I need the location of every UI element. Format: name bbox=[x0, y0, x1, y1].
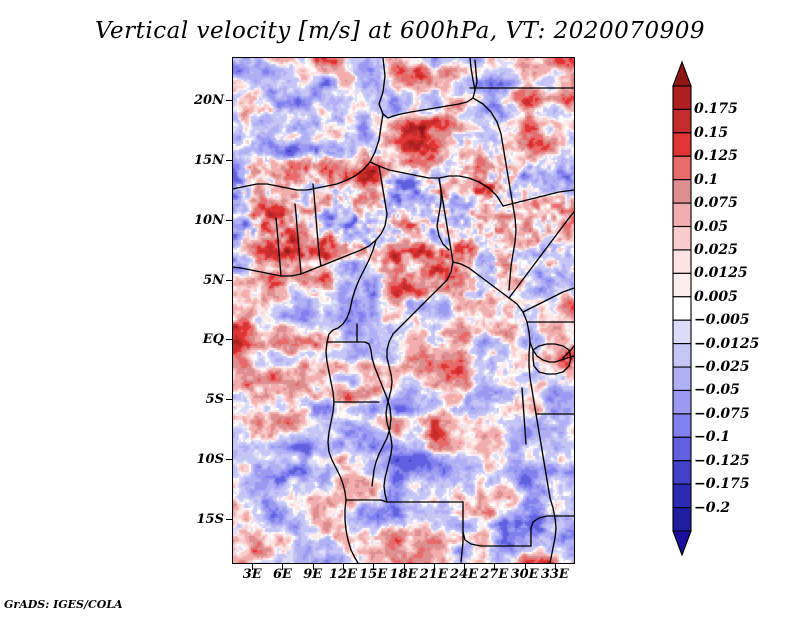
colorbar-band bbox=[673, 180, 691, 203]
page-title: Vertical velocity [m/s] at 600hPa, VT: 2… bbox=[0, 18, 800, 44]
colorbar-band bbox=[673, 273, 691, 296]
y-tick-mark bbox=[226, 220, 233, 221]
colorbar-label-neg0.125: −0.125 bbox=[694, 454, 750, 468]
x-tick-mark bbox=[343, 563, 344, 570]
colorbar-label-0.025: 0.025 bbox=[694, 243, 738, 257]
y-axis-labels: 20N15N10N5NEQ5S10S15S bbox=[160, 57, 224, 562]
colorbar-label-neg0.2: −0.2 bbox=[694, 501, 730, 515]
colorbar-label-0.0125: 0.0125 bbox=[694, 266, 748, 280]
colorbar-label-0.175: 0.175 bbox=[694, 102, 738, 116]
y-tick-label-5n: 5N bbox=[203, 274, 224, 287]
colorbar-band bbox=[673, 203, 691, 226]
colorbar-underflow-arrow-bottom bbox=[673, 531, 691, 555]
colorbar-band bbox=[673, 508, 691, 531]
colorbar-band bbox=[673, 133, 691, 156]
y-tick-label-5s: 5S bbox=[206, 393, 224, 406]
colorbar-band bbox=[673, 227, 691, 250]
map-plot-area[interactable] bbox=[232, 57, 575, 564]
x-tick-mark bbox=[525, 563, 526, 570]
colorbar-band bbox=[673, 484, 691, 507]
x-tick-mark bbox=[252, 563, 253, 570]
colorbar-label-neg0.175: −0.175 bbox=[694, 477, 750, 491]
colorbar-band bbox=[673, 390, 691, 413]
colorbar-band bbox=[673, 86, 691, 109]
x-tick-mark bbox=[404, 563, 405, 570]
y-tick-label-10n: 10N bbox=[194, 214, 224, 227]
x-tick-mark bbox=[494, 563, 495, 570]
colorbar-label-0.15: 0.15 bbox=[694, 126, 728, 140]
y-tick-label-15s: 15S bbox=[197, 513, 224, 526]
x-axis-labels: 3E6E9E12E15E18E21E24E27E30E33E bbox=[232, 568, 573, 588]
colorbar-label-0.075: 0.075 bbox=[694, 196, 738, 210]
colorbar-label-0.005: 0.005 bbox=[694, 290, 738, 304]
colorbar-band bbox=[673, 109, 691, 132]
y-tick-mark bbox=[226, 459, 233, 460]
colorbar-band bbox=[673, 414, 691, 437]
colorbar-band bbox=[673, 367, 691, 390]
colorbar-band bbox=[673, 437, 691, 460]
x-tick-mark bbox=[555, 563, 556, 570]
y-tick-label-10s: 10S bbox=[197, 453, 224, 466]
country-borders-overlay bbox=[233, 58, 574, 563]
colorbar-label-0.05: 0.05 bbox=[694, 220, 728, 234]
y-tick-label-15n: 15N bbox=[194, 154, 224, 167]
colorbar-label-0.125: 0.125 bbox=[694, 149, 738, 163]
colorbar-tick-labels: 0.1750.150.1250.10.0750.050.0250.01250.0… bbox=[694, 60, 798, 558]
x-tick-mark bbox=[282, 563, 283, 570]
grads-credit: GrADS: IGES/COLA bbox=[4, 599, 123, 610]
y-tick-mark bbox=[226, 519, 233, 520]
y-tick-mark bbox=[226, 100, 233, 101]
y-tick-label-20n: 20N bbox=[194, 94, 224, 107]
x-tick-mark bbox=[373, 563, 374, 570]
y-tick-mark bbox=[226, 339, 233, 340]
colorbar-band bbox=[673, 320, 691, 343]
colorbar-band bbox=[673, 250, 691, 273]
colorbar-label-0.1: 0.1 bbox=[694, 173, 718, 187]
y-tick-mark bbox=[226, 399, 233, 400]
colorbar-label-neg0.005: −0.005 bbox=[694, 313, 750, 327]
colorbar-label-neg0.0125: −0.0125 bbox=[694, 337, 759, 351]
colorbar-band bbox=[673, 344, 691, 367]
colorbar-overflow-arrow-top bbox=[673, 62, 691, 86]
colorbar-band bbox=[673, 461, 691, 484]
colorbar-band bbox=[673, 156, 691, 179]
colorbar-label-neg0.1: −0.1 bbox=[694, 430, 730, 444]
x-tick-mark bbox=[313, 563, 314, 570]
x-tick-mark bbox=[464, 563, 465, 570]
colorbar-band bbox=[673, 297, 691, 320]
y-tick-mark bbox=[226, 280, 233, 281]
y-tick-label-eq: EQ bbox=[203, 333, 224, 346]
colorbar[interactable] bbox=[669, 60, 695, 558]
colorbar-label-neg0.05: −0.05 bbox=[694, 383, 740, 397]
colorbar-label-neg0.075: −0.075 bbox=[694, 407, 750, 421]
y-tick-mark bbox=[226, 160, 233, 161]
x-tick-mark bbox=[434, 563, 435, 570]
colorbar-label-neg0.025: −0.025 bbox=[694, 360, 750, 374]
